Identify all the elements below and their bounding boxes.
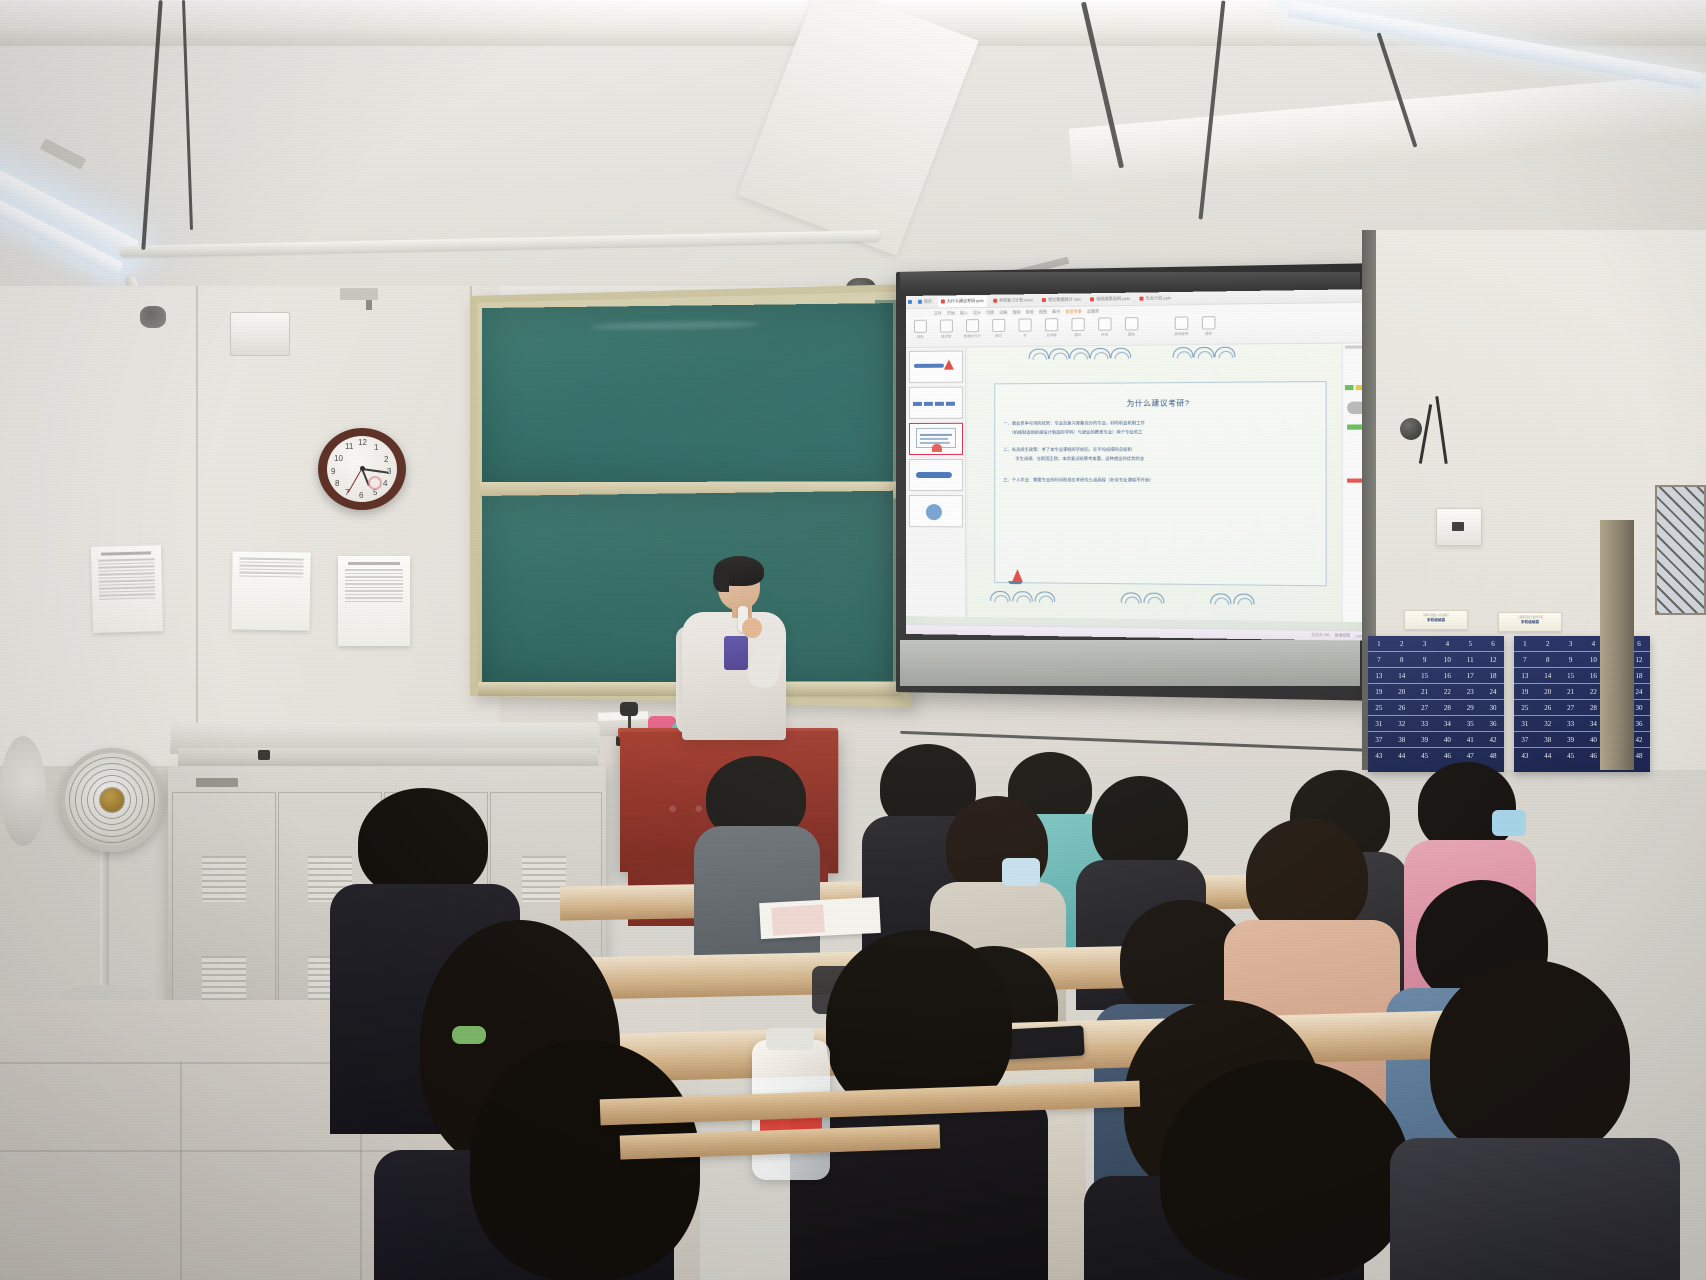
pocket-number[interactable]: 8 [1391,656,1413,664]
menu-item-view[interactable]: 视图 [1039,309,1047,315]
tab-pptx-3[interactable]: 专业介绍.pptx [1136,293,1174,305]
pocket-number[interactable]: 20 [1391,688,1413,696]
ribbon-label: 选择 [1205,330,1212,335]
fan-hub [100,788,124,812]
clock-numeral: 6 [359,491,363,500]
pocket-number[interactable]: 32 [1537,720,1559,728]
menu-item-home[interactable]: 开始 [947,310,955,316]
pocket-number[interactable]: 44 [1537,752,1559,760]
pocket-number[interactable]: 2 [1537,640,1559,648]
paste-icon [913,320,926,333]
ribbon-textbox-button[interactable]: 文本框 [1041,318,1061,337]
pocket-number[interactable]: 25 [1514,704,1536,712]
select-icon [1201,316,1215,330]
pocket-number[interactable]: 15 [1560,672,1582,680]
tab-active-pptx[interactable]: 为什么建议考研.pptx [938,295,987,307]
pocket-row: 43 44 45 46 47 48 [1368,748,1504,763]
face-mask-icon [1492,810,1526,836]
menu-item-file[interactable]: 文件 [934,310,942,316]
thumb-bar [935,402,944,406]
pocket-row: 37 38 39 40 41 42 [1368,732,1504,748]
shape-icon [1098,317,1111,330]
wave-decoration [1049,348,1069,358]
pocket-number[interactable]: 14 [1391,672,1413,680]
ribbon-label: 图表 [1128,331,1135,336]
pocket-number[interactable]: 21 [1560,688,1582,696]
layout-icon [992,319,1005,332]
pocket-number[interactable]: 1 [1514,640,1536,648]
textbox-icon [1044,318,1057,331]
pocket-number[interactable]: 32 [1391,720,1413,728]
hoodie-graphic [724,636,748,670]
pane-swatch [1345,385,1354,390]
slide-body-line: （机械制造和机械设计制造的学科）与就业的教育专业）两个专业的工 [1009,429,1142,435]
picture-icon [1071,318,1084,331]
wall-speaker-icon [140,306,166,328]
status-slide-index: 幻灯片 3/6 [1311,633,1329,638]
tab-label: 专业介绍.pptx [1146,295,1172,301]
pocket-number[interactable]: 38 [1391,736,1413,744]
wave-decoration [1233,594,1254,605]
clock-numeral: 2 [384,455,388,464]
wall-hook [366,300,372,310]
pocket-number[interactable]: 45 [1414,752,1436,760]
pocket-number[interactable]: 31 [1368,720,1390,728]
pocket-number[interactable]: 5 [1459,640,1481,648]
pocket-number[interactable]: 22 [1436,688,1458,696]
pocket-number[interactable]: 33 [1560,720,1582,728]
sailboat-icon [944,360,954,370]
ribbon-shape-button[interactable]: 形状 [1094,317,1115,337]
tab-home[interactable]: 首页 [915,296,935,307]
pocket-number[interactable]: 19 [1514,688,1536,696]
ribbon-label: 粘贴 [917,334,924,339]
ribbon-section-button[interactable]: 节 [1014,318,1034,337]
ribbon-label: 形状 [1101,332,1108,337]
wps-ribbon[interactable]: 粘贴 格式刷 新建幻灯片 版式 节 文本框 图片 形状 [906,312,1370,348]
wall-poster-left [91,545,163,633]
wps-logo-icon [908,300,912,304]
ribbon-label: 查找替换 [1174,331,1188,336]
thumb-bar [913,402,922,406]
desk-microphone-icon [620,702,638,716]
label-text: 手机收纳袋 [1405,618,1467,623]
wave-decoration [1144,593,1165,603]
pocket-number[interactable]: 25 [1368,704,1390,712]
clock-numeral: 4 [383,479,387,488]
window-security-grille [1655,485,1706,615]
sheet-icon [1042,298,1046,302]
pocket-number[interactable]: 30 [1482,704,1504,712]
pocket-number[interactable]: 11 [1459,656,1481,664]
student-hair [1430,960,1630,1160]
menu-item-animation[interactable]: 动画 [999,309,1007,315]
clock-minute-hand [362,468,389,474]
ribbon-label: 图片 [1074,332,1081,337]
slide-canvas[interactable]: 为什么建议考研? 一、就业竞争可用的优势：专业及复习准备充分的专业，好的机会机制… [968,344,1342,622]
projection-screen-lower-blank [900,640,1360,686]
pocket-number[interactable]: 37 [1514,736,1536,744]
student-torso [1390,1138,1680,1280]
ribbon-paste-button[interactable]: 粘贴 [910,320,930,339]
menu-item-review[interactable]: 审阅 [1026,309,1034,315]
ribbon-label: 格式刷 [941,333,951,338]
pocket-number[interactable]: 27 [1414,704,1436,712]
pocket-number[interactable]: 7 [1514,656,1536,664]
ribbon-label: 版式 [995,333,1002,338]
ppt-icon [1090,297,1094,301]
lectern-text: ● [668,800,677,817]
thumb-circle-icon [926,504,942,520]
menu-item-section[interactable]: 章节 [1052,308,1060,314]
slide-body-line: 二、有选择生政策：考了本专业课程的学校后，在平均成绩的总结和 [1003,447,1132,453]
face-mask-icon [1002,858,1040,886]
slide-thumbnail-selected[interactable]: 3 [909,423,963,455]
sailboat-icon [932,444,942,452]
slide-thumbnail-pane[interactable]: 1 2 3 4 [906,347,966,616]
pocket-number[interactable]: 44 [1391,752,1413,760]
tab-label: 就业数据统计.xlsx [1048,296,1081,303]
tab-xlsx[interactable]: 就业数据统计.xlsx [1039,294,1084,306]
ribbon-new-slide-button[interactable]: 新建幻灯片 [962,319,982,338]
pocket-number[interactable]: 34 [1436,720,1458,728]
pocket-number[interactable]: 13 [1514,672,1536,680]
pocket-number[interactable]: 48 [1482,752,1504,760]
wave-decoration [1069,348,1090,358]
wave-decoration [1210,593,1231,604]
thumb-line [920,438,948,440]
pedestal-fan-secondary [0,736,46,846]
clock-numeral: 10 [334,454,343,463]
ribbon-find-button[interactable]: 查找替换 [1171,316,1192,336]
clock-red-marker [368,476,382,490]
slide-body-line: 一、就业竞争可用的优势：专业及复习准备充分的专业，好的机会机制工作 [1003,420,1145,426]
pocket-row: 7 8 9 10 11 12 [1368,652,1504,668]
ribbon-layout-button[interactable]: 版式 [988,319,1008,338]
wall-seam [196,286,198,756]
wave-decoration [1110,348,1131,358]
student-hair [470,1040,700,1280]
clock-numeral: 9 [331,467,335,476]
ribbon-select-button[interactable]: 选择 [1198,316,1219,336]
left-wall-panel [0,286,500,766]
menu-item-cloud[interactable]: 云服务 [1087,308,1099,314]
pocket-number[interactable]: 39 [1414,736,1436,744]
wall-panel-box [230,312,290,356]
pocket-number[interactable]: 8 [1537,656,1559,664]
wall-control-box-slot [1452,522,1464,531]
wall-bracket [340,288,378,300]
wall-speaker-icon [1400,418,1422,440]
pocket-number[interactable]: 31 [1514,720,1536,728]
pocket-number[interactable]: 40 [1436,736,1458,744]
locker-vent [202,956,246,1002]
ribbon-picture-button[interactable]: 图片 [1067,318,1087,338]
ribbon-chart-button[interactable]: 图表 [1121,317,1142,337]
tab-label: 为什么建议考研.pptx [947,298,984,305]
pocket-number[interactable]: 36 [1482,720,1504,728]
ribbon-label: 新建幻灯片 [963,333,980,338]
pocket-number[interactable]: 3 [1414,640,1436,648]
clock-second-hand [348,468,363,493]
slide-thumbnail[interactable]: 2 [909,387,963,419]
slide-body-line: 学生成绩、在职国王院，本质复试结果考查要，这种就业的优势的金 [1015,456,1144,462]
pocket-number[interactable]: 20 [1537,688,1559,696]
pocket-number[interactable]: 43 [1514,752,1536,760]
pocket-number[interactable]: 16 [1436,672,1458,680]
label-subtext: 请将手机放入对应编号 [1405,613,1467,617]
classroom-photo: 12 1 2 3 4 5 6 7 8 9 10 11 首页 为什么建议考研 [0,0,1706,1280]
thumb-bar [914,364,944,368]
clock-center-pin [360,466,365,471]
wave-decoration [1194,347,1215,357]
pocket-number[interactable]: 7 [1368,656,1390,664]
pocket-number[interactable]: 3 [1560,640,1582,648]
lectern-text: ● [694,800,703,817]
pocket-number[interactable]: 18 [1482,672,1504,680]
pocket-chart-label-left: 请将手机放入对应编号 手机收纳袋 [1404,610,1468,630]
wave-decoration [1090,348,1111,358]
section-icon [1018,318,1031,331]
pocket-number[interactable]: 27 [1560,704,1582,712]
pocket-number[interactable]: 28 [1436,704,1458,712]
wave-decoration [1173,347,1194,357]
ribbon-format-brush-button[interactable]: 格式刷 [936,319,956,338]
thumb-bar [924,402,933,406]
menu-item-insert[interactable]: 插入 [960,310,968,316]
pocket-number[interactable]: 39 [1560,736,1582,744]
pocket-row: 19 20 21 22 23 24 [1368,684,1504,700]
wave-decoration [1121,592,1142,602]
student-hair [1418,762,1516,852]
menu-item-member[interactable]: 会员专享 [1065,308,1081,314]
student-hair [358,788,488,898]
pocket-number[interactable]: 42 [1482,736,1504,744]
pocket-number[interactable]: 21 [1414,688,1436,696]
tab-label: 首页 [924,299,932,305]
ppt-icon [941,299,945,303]
locker-latch[interactable] [258,750,270,760]
wave-decoration [1012,591,1032,601]
sailboat-hull [1008,581,1022,584]
chalkboard-upper-panel [482,303,893,488]
wall-poster-right [338,556,410,646]
pocket-number[interactable]: 2 [1391,640,1413,648]
pocket-number[interactable]: 4 [1436,640,1458,648]
ribbon-label: 文本框 [1046,332,1056,337]
label-text: 手机收纳袋 [1499,620,1561,625]
thumb-arrow-icon [916,472,952,478]
doc-icon [993,299,997,303]
clock-numeral: 12 [358,438,367,447]
pocket-number[interactable]: 38 [1537,736,1559,744]
clock-face: 12 1 2 3 4 5 6 7 8 9 10 11 [327,436,397,502]
pocket-number[interactable]: 10 [1436,656,1458,664]
water-bottle-cap [766,1028,814,1050]
tab-label: 考研复习计划.docx [999,297,1033,304]
hair-tie-icon [452,1026,486,1044]
pocket-row: 25 26 27 28 29 30 [1368,700,1504,716]
search-icon [1174,316,1188,329]
pocket-number[interactable]: 19 [1368,688,1390,696]
locker-label-plate [196,778,238,787]
pocket-number[interactable]: 37 [1368,736,1390,744]
student-hair [1092,776,1188,872]
clock-numeral: 8 [335,479,339,488]
slide-title: 为什么建议考研? [995,397,1325,410]
thumb-line [920,434,952,436]
tab-docx[interactable]: 考研复习计划.docx [990,295,1036,307]
pocket-chart-left[interactable]: 1 2 3 4 5 6 7 8 9 10 11 12 13 14 15 16 1… [1368,636,1504,772]
menu-item-transition[interactable]: 切换 [986,309,994,315]
presenter-hair-side [713,566,729,592]
wall-poster-mid [231,551,310,630]
student-torso [694,826,820,966]
format-brush-icon [939,319,952,332]
slide-thumbnail[interactable]: 4 [909,459,963,491]
sailboat-icon [1012,569,1022,581]
pocket-row: 1 2 3 4 5 6 [1368,636,1504,652]
chart-icon [1124,317,1137,330]
pocket-number[interactable]: 43 [1368,752,1390,760]
student-hair [1246,818,1368,936]
wave-decoration [1035,591,1055,601]
pocket-row: 13 14 15 16 17 18 [1368,668,1504,684]
projected-desktop[interactable]: 首页 为什么建议考研.pptx 考研复习计划.docx 就业数据统计.xlsx … [906,289,1370,641]
locker-vent [202,856,246,902]
ppt-icon [1139,297,1143,301]
pocket-number[interactable]: 33 [1414,720,1436,728]
slide-body-line: 三、个人学业：需要专业的时间和现在考研究九或高程（补充专业课程不开始） [1003,477,1153,483]
pocket-number[interactable]: 41 [1459,736,1481,744]
pocket-chart-label-right: 上课期间禁止使用手机 手机收纳袋 [1498,612,1562,632]
pocket-number[interactable]: 45 [1560,752,1582,760]
clock-numeral: 11 [345,442,353,451]
pocket-number[interactable]: 23 [1459,688,1481,696]
wave-decoration [1214,347,1235,357]
pocket-number[interactable]: 46 [1436,752,1458,760]
slide-content-box: 为什么建议考研? 一、就业竞争可用的优势：专业及复习准备充分的专业，好的机会机制… [994,381,1327,586]
pocket-number[interactable]: 9 [1414,656,1436,664]
pocket-number[interactable]: 6 [1482,640,1504,648]
pocket-number[interactable]: 14 [1537,672,1559,680]
menu-item-slideshow[interactable]: 放映 [1012,309,1020,315]
tab-pptx-2[interactable]: 保研政策说明.pptx [1087,293,1133,305]
pocket-number[interactable]: 1 [1368,640,1390,648]
ribbon-label: 节 [1023,333,1026,338]
wave-decoration [1029,349,1049,359]
pocket-number[interactable]: 13 [1368,672,1390,680]
pocket-number[interactable]: 9 [1560,656,1582,664]
textbook-page [771,904,825,936]
pocket-number[interactable]: 47 [1459,752,1481,760]
menu-item-design[interactable]: 设计 [973,309,981,315]
wave-decoration [990,591,1010,601]
pocket-number[interactable]: 26 [1391,704,1413,712]
tab-label: 保研政策说明.pptx [1096,296,1130,303]
pocket-number[interactable]: 12 [1482,656,1504,664]
thumb-bar [946,402,955,406]
wooden-pillar [1600,520,1634,770]
pocket-number[interactable]: 35 [1459,720,1481,728]
pocket-number[interactable]: 17 [1459,672,1481,680]
new-slide-icon [965,319,978,332]
status-view-mode: 普通视图 [1335,633,1350,638]
slide-thumbnail[interactable]: 5 [909,495,963,527]
pocket-number[interactable]: 26 [1537,704,1559,712]
pocket-number[interactable]: 29 [1459,704,1481,712]
floor-tile-line [180,1062,182,1280]
student-hair [1160,1060,1410,1280]
clock-numeral: 1 [374,443,378,452]
label-subtext: 上课期间禁止使用手机 [1499,615,1561,619]
slide-thumbnail[interactable]: 1 [909,350,963,383]
presenter-hand [742,618,762,638]
pocket-number[interactable]: 24 [1482,688,1504,696]
pocket-number[interactable]: 15 [1414,672,1436,680]
home-icon [918,300,922,304]
pocket-row: 31 32 33 34 35 36 [1368,716,1504,732]
